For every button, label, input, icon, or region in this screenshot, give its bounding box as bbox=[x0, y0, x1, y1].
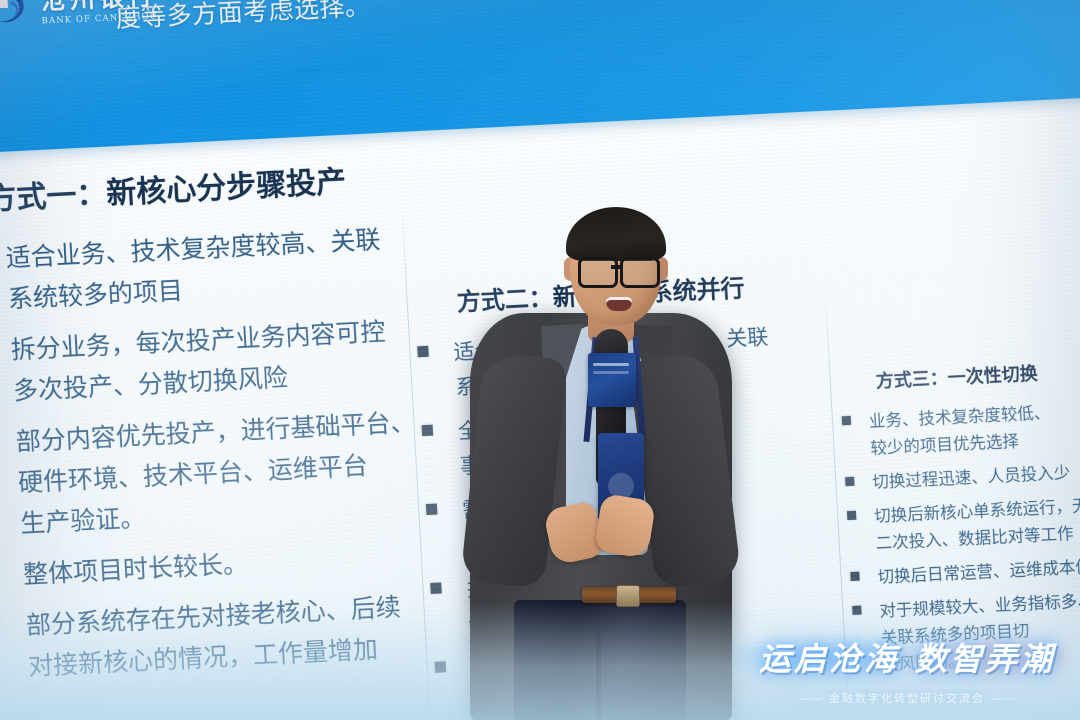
watermark-subtitle-text: 金融数字化转型研讨交流会 bbox=[829, 692, 985, 705]
bullet-square-icon bbox=[852, 606, 861, 615]
bullet-square-icon bbox=[847, 511, 856, 520]
column-one-title-main: 新核心分步骤投产 bbox=[105, 165, 347, 212]
bank-logo-mark-icon bbox=[0, 0, 33, 31]
bank-name-en: BANK OF CANGZHOU bbox=[42, 13, 159, 26]
bullet-square-icon bbox=[845, 477, 854, 486]
bullet-square-icon bbox=[430, 583, 442, 595]
column-one-title-prefix: 方式一： bbox=[0, 177, 107, 218]
bullet-square-icon bbox=[422, 425, 434, 437]
watermark-title-left: 运启沧海 bbox=[759, 640, 899, 678]
bullet-item: 适合业务、技术复杂度较高、关联 系统较多的项目 bbox=[0, 216, 439, 321]
bullet-line: 整体项目时长较长。 bbox=[22, 533, 454, 595]
column-three-title-main: 一次性切换 bbox=[947, 364, 1038, 389]
event-watermark: 运启沧海数智弄潮 ——金融数字化转型研讨交流会—— bbox=[742, 618, 1072, 714]
slide-column-method-one: 方式一：新核心分步骤投产 适合业务、技术复杂度较高、关联 系统较多的项目 拆分业… bbox=[0, 152, 459, 699]
watermark-subtitle: ——金融数字化转型研讨交流会—— bbox=[742, 690, 1072, 706]
bullet-square-icon bbox=[842, 416, 851, 425]
watermark-title: 运启沧海数智弄潮 bbox=[742, 634, 1072, 680]
column-one-bullets: 适合业务、技术复杂度较高、关联 系统较多的项目 拆分业务，每次投产业务内容可控 … bbox=[0, 216, 459, 689]
bullet-item: 部分系统存在先对接老核心、后续 对接新核心的情况，工作量增加 bbox=[0, 584, 459, 689]
speaker-glasses-right-lens bbox=[620, 257, 660, 288]
speaker-figure bbox=[470, 205, 740, 720]
bullet-square-icon bbox=[850, 572, 859, 581]
watermark-dash-left: —— bbox=[797, 692, 823, 705]
speaker-mouth bbox=[606, 297, 632, 311]
speaker-belt-buckle bbox=[616, 585, 640, 607]
watermark-title-right: 数智弄潮 bbox=[915, 640, 1055, 678]
bullet-square-icon bbox=[426, 504, 438, 516]
bank-logo-text: 沧州银行 BANK OF CANGZHOU bbox=[40, 0, 158, 26]
presentation-photo: 主流的切换方式为三种：新老核心系统并行使用、新核心分步骤投产、一次性切换、 的切… bbox=[0, 0, 1080, 720]
speaker-trouser-seam bbox=[596, 625, 601, 720]
bullet-item: 拆分业务，每次投产业务内容可控 多次投产、分散切换风险 bbox=[0, 308, 444, 413]
column-three-title-prefix: 方式三： bbox=[875, 368, 948, 393]
speaker-glasses-left-lens bbox=[578, 257, 618, 288]
speaker-hair bbox=[566, 207, 666, 261]
bullet-square-icon bbox=[435, 662, 447, 674]
bullet-item: 业务、技术复杂度较低、 较少的项目优先选择 bbox=[841, 393, 1080, 463]
bullet-item: 切换后新核心单系统运行，无 二次投入、数据比对等工作 bbox=[847, 488, 1080, 558]
bullet-square-icon bbox=[417, 346, 429, 358]
bullet-item: 部分内容优先投产，进行基础平台、 硬件环境、技术平台、运维平台 生产验证。 bbox=[0, 400, 451, 546]
microphone-flag-badge bbox=[588, 353, 636, 407]
speaker-glasses-bridge bbox=[611, 265, 621, 269]
watermark-dash-right: —— bbox=[991, 692, 1017, 705]
